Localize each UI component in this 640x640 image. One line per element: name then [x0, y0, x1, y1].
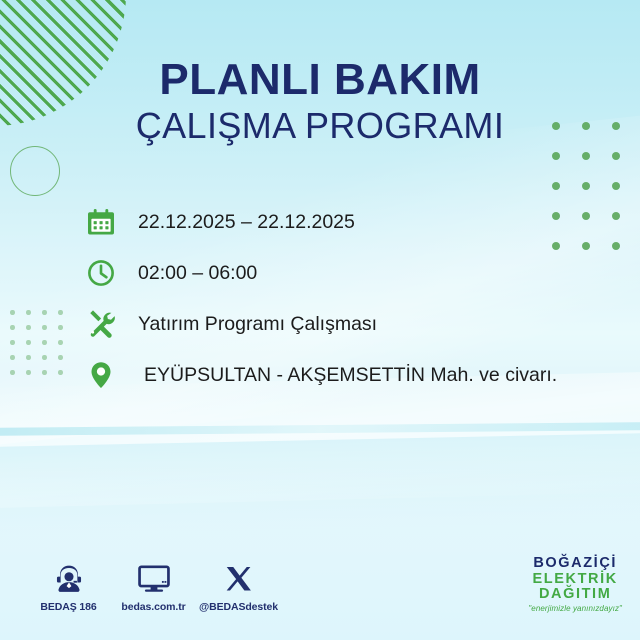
dot [612, 152, 620, 160]
dot [42, 370, 47, 375]
dot [10, 340, 15, 345]
dot [26, 310, 31, 315]
dot [612, 182, 620, 190]
footer-label-website: bedas.com.tr [111, 601, 196, 613]
footer-contact-bar: BEDAŞ 186 bedas.com.tr @BEDASdestek [26, 560, 281, 613]
dot [58, 310, 63, 315]
dot [58, 355, 63, 360]
dot [10, 370, 15, 375]
dot-grid-left-decoration [10, 310, 74, 385]
footer-label-social: @BEDASdestek [196, 601, 281, 613]
brand-line-bogazici: BOĞAZİÇİ [528, 556, 622, 572]
bedas-brand-logo: BOĞAZİÇİ ELEKTRİK DAĞITIM "enerjimizle y… [528, 556, 622, 614]
maintenance-details-list: 22.12.2025 – 22.12.2025 02:00 – 06:00 [86, 198, 626, 402]
dot [42, 325, 47, 330]
dot [42, 310, 47, 315]
maintenance-location: EYÜPSULTAN - AKŞEMSETTİN Mah. ve civarı. [126, 364, 557, 387]
footer-item-website[interactable]: bedas.com.tr [111, 560, 196, 613]
dot [10, 355, 15, 360]
footer-item-call-center[interactable]: BEDAŞ 186 [26, 560, 111, 613]
headset-support-icon [26, 560, 111, 598]
dot [58, 340, 63, 345]
calendar-icon [86, 202, 126, 242]
dot [58, 325, 63, 330]
circle-outline-decoration [10, 146, 60, 196]
dot [10, 310, 15, 315]
maintenance-work-type: Yatırım Programı Çalışması [126, 313, 377, 336]
planned-maintenance-poster: PLANLI BAKIM ÇALIŞMA PROGRAMI [0, 0, 640, 640]
background-highlight-line [0, 422, 640, 437]
clock-icon [86, 253, 126, 293]
detail-row-location: EYÜPSULTAN - AKŞEMSETTİN Mah. ve civarı. [86, 351, 626, 399]
tools-icon [86, 304, 126, 344]
footer-item-social[interactable]: @BEDASdestek [196, 560, 281, 613]
brand-line-dagitim: DAĞITIM [528, 587, 622, 603]
dot [26, 355, 31, 360]
dot [26, 325, 31, 330]
dot [582, 152, 590, 160]
dot [582, 182, 590, 190]
footer-label-call-center: BEDAŞ 186 [26, 601, 111, 613]
poster-heading: PLANLI BAKIM ÇALIŞMA PROGRAMI [0, 58, 640, 144]
background-sheen-lower [0, 432, 640, 538]
brand-line-elektrik: ELEKTRİK [528, 572, 622, 588]
detail-row-time: 02:00 – 06:00 [86, 249, 626, 297]
brand-tagline: "enerjimizle yanınızdayız" [528, 605, 622, 614]
page-subtitle: ÇALIŞMA PROGRAMI [0, 108, 640, 144]
dot [552, 182, 560, 190]
dot [10, 325, 15, 330]
detail-row-work-type: Yatırım Programı Çalışması [86, 300, 626, 348]
x-twitter-icon [196, 560, 281, 598]
dot [26, 370, 31, 375]
dot [58, 370, 63, 375]
monitor-icon [111, 560, 196, 598]
page-title: PLANLI BAKIM [0, 58, 640, 102]
dot [42, 340, 47, 345]
detail-row-date: 22.12.2025 – 22.12.2025 [86, 198, 626, 246]
dot [42, 355, 47, 360]
location-pin-icon [86, 355, 126, 395]
dot [552, 152, 560, 160]
dot [26, 340, 31, 345]
maintenance-date-range: 22.12.2025 – 22.12.2025 [126, 211, 355, 234]
maintenance-time-range: 02:00 – 06:00 [126, 262, 257, 285]
